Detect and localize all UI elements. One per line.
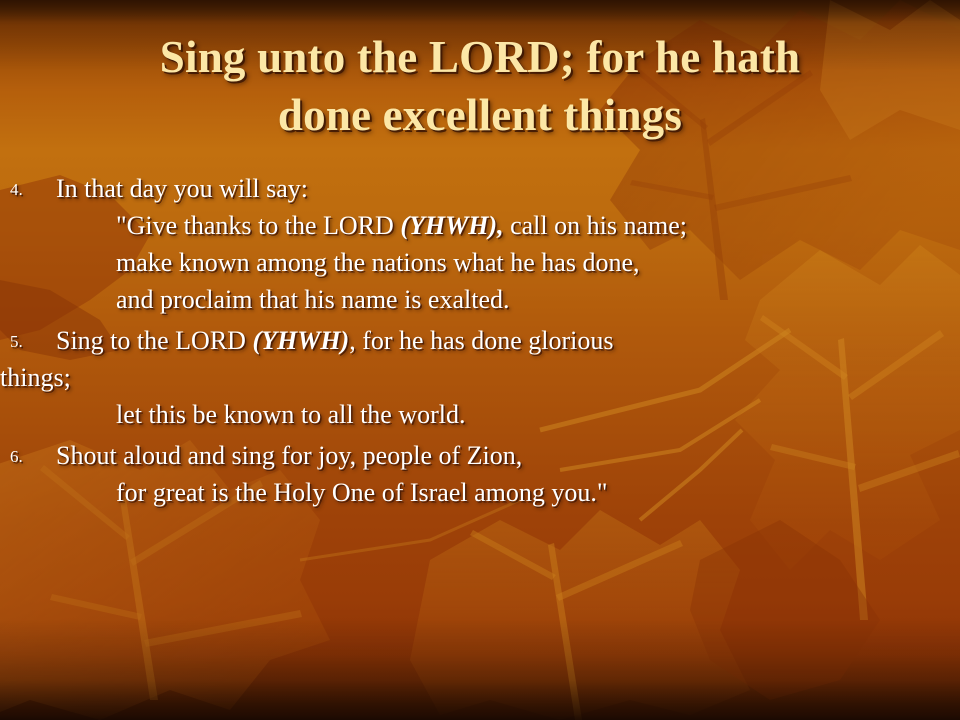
list-item: 4.In that day you will say:"Give thanks … [0,170,960,318]
slide-title-line-2: done excellent things [40,86,920,144]
scripture-line: things; [0,359,944,396]
scripture-text: and proclaim that his name is exalted. [116,285,510,314]
scripture-line: make known among the nations what he has… [56,244,944,281]
scripture-text: for great is the Holy One of Israel amon… [116,478,607,507]
scripture-line: In that day you will say: [56,170,944,207]
scripture-text: call on his name; [504,211,687,240]
scripture-text: let this be known to all the world. [116,400,466,429]
scripture-line: Sing to the LORD (YHWH), for he has done… [56,322,944,359]
slide-title: Sing unto the LORD; for he hath done exc… [40,28,920,144]
scripture-line: for great is the Holy One of Israel amon… [56,474,944,511]
divine-name-emphasis: (YHWH) [252,326,349,355]
list-item-text-block: Shout aloud and sing for joy, people of … [56,437,944,511]
list-item: 6. Shout aloud and sing for joy, people … [0,437,960,511]
scripture-line: "Give thanks to the LORD (YHWH), call on… [56,207,944,244]
scripture-text: In that day you will say: [56,174,308,203]
list-item-marker: 5. [10,332,38,352]
list-item-text-block: Sing to the LORD (YHWH), for he has done… [56,322,944,433]
presentation-slide: Sing unto the LORD; for he hath done exc… [0,0,960,720]
list-item: 5. Sing to the LORD (YHWH), for he has d… [0,322,960,433]
list-item-marker: 6. [10,447,38,467]
scripture-text: Shout aloud and sing for joy, people of … [56,441,522,470]
scripture-line: Shout aloud and sing for joy, people of … [56,437,944,474]
scripture-line: and proclaim that his name is exalted. [56,281,944,318]
scripture-list: 4.In that day you will say:"Give thanks … [0,170,960,511]
scripture-text: make known among the nations what he has… [116,248,640,277]
slide-content: Sing unto the LORD; for he hath done exc… [0,0,960,720]
scripture-text: Sing to the LORD [56,326,252,355]
list-item-text-block: In that day you will say:"Give thanks to… [56,170,944,318]
list-item-marker: 4. [10,180,38,200]
divine-name-emphasis: (YHWH), [400,211,503,240]
scripture-text: things; [0,363,71,392]
scripture-text: "Give thanks to the LORD [116,211,400,240]
slide-title-line-1: Sing unto the LORD; for he hath [40,28,920,86]
scripture-line: let this be known to all the world. [56,396,944,433]
scripture-text: , for he has done glorious [349,326,613,355]
